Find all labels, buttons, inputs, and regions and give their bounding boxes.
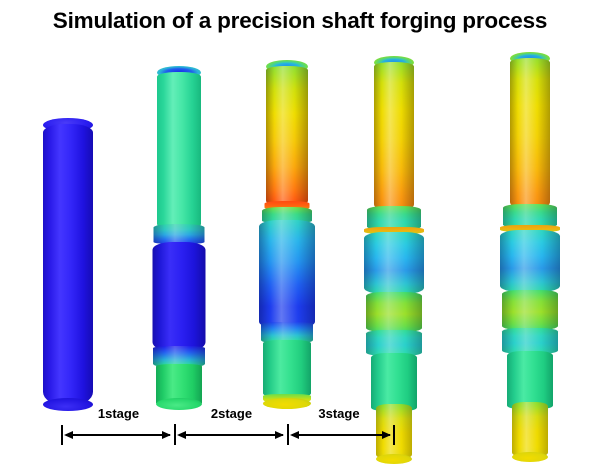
final-cyan-bulge-shade: [500, 230, 560, 292]
final-upper-shank-shade: [510, 58, 550, 208]
stage3-green-band-shade: [366, 292, 422, 332]
shaft-after-stage-2: [254, 60, 320, 410]
shaft-finished: [494, 52, 566, 410]
stage-tick-3: [393, 425, 395, 445]
stage2-upper-shank-shade: [266, 66, 308, 206]
stage3-bottom-face: [376, 454, 412, 464]
stage-2-arrowhead-left: [177, 431, 186, 439]
billet-body: [43, 124, 93, 406]
stage-1-label: 1stage: [71, 406, 166, 421]
stage-3-arrowhead-left: [290, 431, 299, 439]
figure-canvas: Simulation of a precision shaft forging …: [0, 0, 600, 451]
stage-3-arrowhead-right: [382, 431, 391, 439]
stage-2-label: 2stage: [184, 406, 279, 421]
stage-1-arrowhead-right: [162, 431, 171, 439]
stage-2-arrow-line: [179, 434, 283, 436]
stage-3-arrow-line: [292, 434, 390, 436]
stage2-lower-shank: [263, 340, 311, 398]
stage-1-arrow-line: [66, 434, 170, 436]
stage-3-label: 3stage: [293, 406, 385, 421]
shaft-after-stage-1: [148, 66, 210, 410]
stage3-cyan-bulge-shade: [364, 232, 424, 294]
page-title: Simulation of a precision shaft forging …: [0, 8, 600, 34]
final-bottom-face: [512, 452, 548, 462]
stage3-upper-shank-shade: [374, 62, 414, 210]
stage1-blue-upset-zone: [153, 242, 206, 352]
stage-tick-2: [287, 424, 289, 445]
stage2-upset-body-shade: [259, 220, 315, 328]
shaft-after-stage-3: [358, 56, 430, 410]
stage-1-arrowhead-left: [64, 431, 73, 439]
stage-2-arrowhead-right: [275, 431, 284, 439]
stage3-green-stem: [371, 353, 417, 411]
final-yellow-bottom-stem-shade: [512, 402, 548, 458]
final-green-stem: [507, 351, 553, 409]
stage1-upper-shoulder-shade: [154, 224, 205, 244]
shaft-initial-billet: [40, 118, 96, 410]
final-green-band-shade: [502, 290, 558, 330]
stage-tick-1: [174, 424, 176, 445]
stage-tick-0: [61, 425, 63, 445]
stage1-upper-shank: [157, 72, 201, 230]
